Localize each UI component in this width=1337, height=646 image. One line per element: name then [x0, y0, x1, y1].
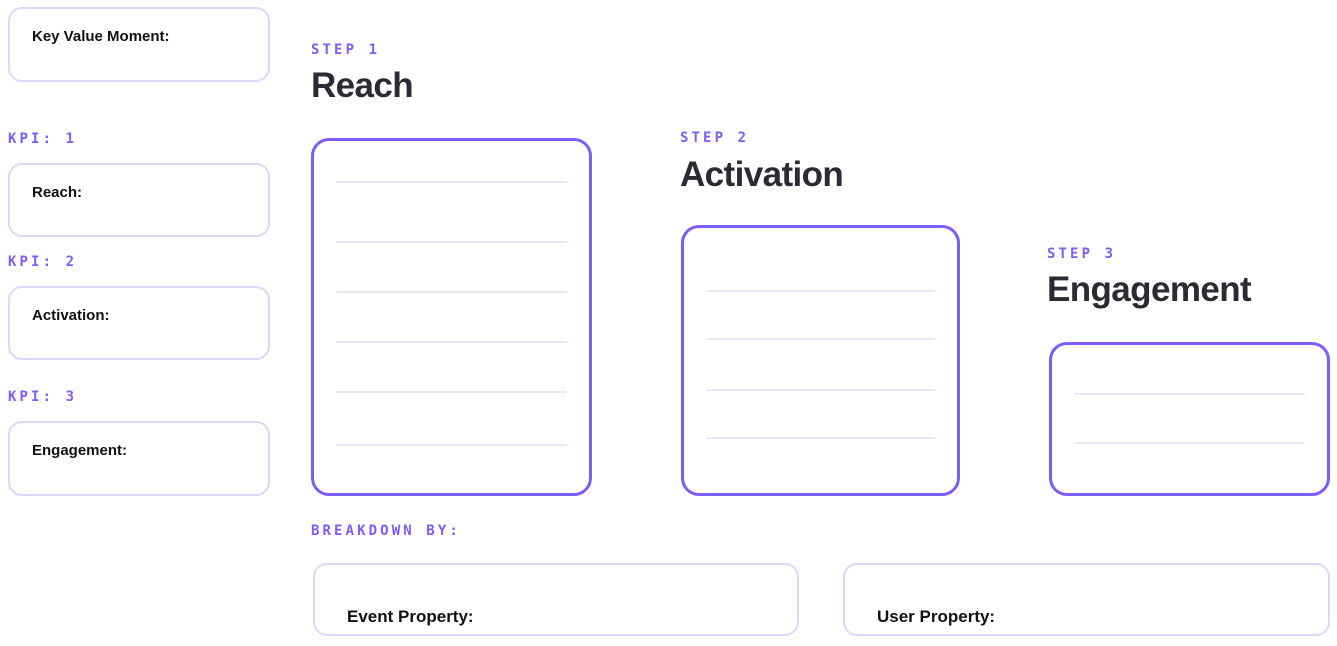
note-rule: [336, 444, 567, 446]
user-property-label: User Property:: [877, 608, 995, 625]
kpi-2-label: Activation:: [32, 308, 110, 323]
note-rule: [336, 341, 567, 343]
step-3-note-card[interactable]: [1049, 342, 1330, 496]
step-1-eyebrow: STEP 1: [311, 43, 380, 57]
breakdown-by-eyebrow: BREAKDOWN BY:: [311, 524, 461, 538]
kpi-2-card[interactable]: Activation:: [8, 286, 270, 360]
step-2-title: Activation: [680, 157, 843, 192]
step-2-eyebrow: STEP 2: [680, 131, 749, 145]
kpi-3-label: Engagement:: [32, 443, 127, 458]
step-3-title: Engagement: [1047, 272, 1251, 307]
kpi-2-eyebrow: KPI: 2: [8, 255, 77, 269]
step-2-note-card[interactable]: [681, 225, 960, 496]
note-rule: [1074, 393, 1305, 395]
note-rule: [706, 290, 935, 292]
note-rule: [336, 241, 567, 243]
event-property-label: Event Property:: [347, 608, 474, 625]
step-3-eyebrow: STEP 3: [1047, 247, 1116, 261]
step-2-note-lines: [684, 228, 957, 493]
note-rule: [336, 391, 567, 393]
step-1-title: Reach: [311, 68, 413, 103]
note-rule: [706, 389, 935, 391]
note-rule: [706, 338, 935, 340]
kpi-3-eyebrow: KPI: 3: [8, 390, 77, 404]
step-3-note-lines: [1052, 345, 1327, 493]
user-property-card[interactable]: User Property:: [843, 563, 1330, 636]
note-rule: [336, 291, 567, 293]
note-rule: [336, 181, 567, 183]
step-1-note-lines: [314, 141, 589, 493]
kpi-1-card[interactable]: Reach:: [8, 163, 270, 237]
kpi-3-card[interactable]: Engagement:: [8, 421, 270, 496]
event-property-card[interactable]: Event Property:: [313, 563, 799, 636]
note-rule: [1074, 442, 1305, 444]
kpi-1-eyebrow: KPI: 1: [8, 132, 77, 146]
kpi-1-label: Reach:: [32, 185, 82, 200]
key-value-moment-card[interactable]: Key Value Moment:: [8, 7, 270, 82]
step-1-note-card[interactable]: [311, 138, 592, 496]
note-rule: [706, 437, 935, 439]
key-value-moment-label: Key Value Moment:: [32, 29, 170, 44]
